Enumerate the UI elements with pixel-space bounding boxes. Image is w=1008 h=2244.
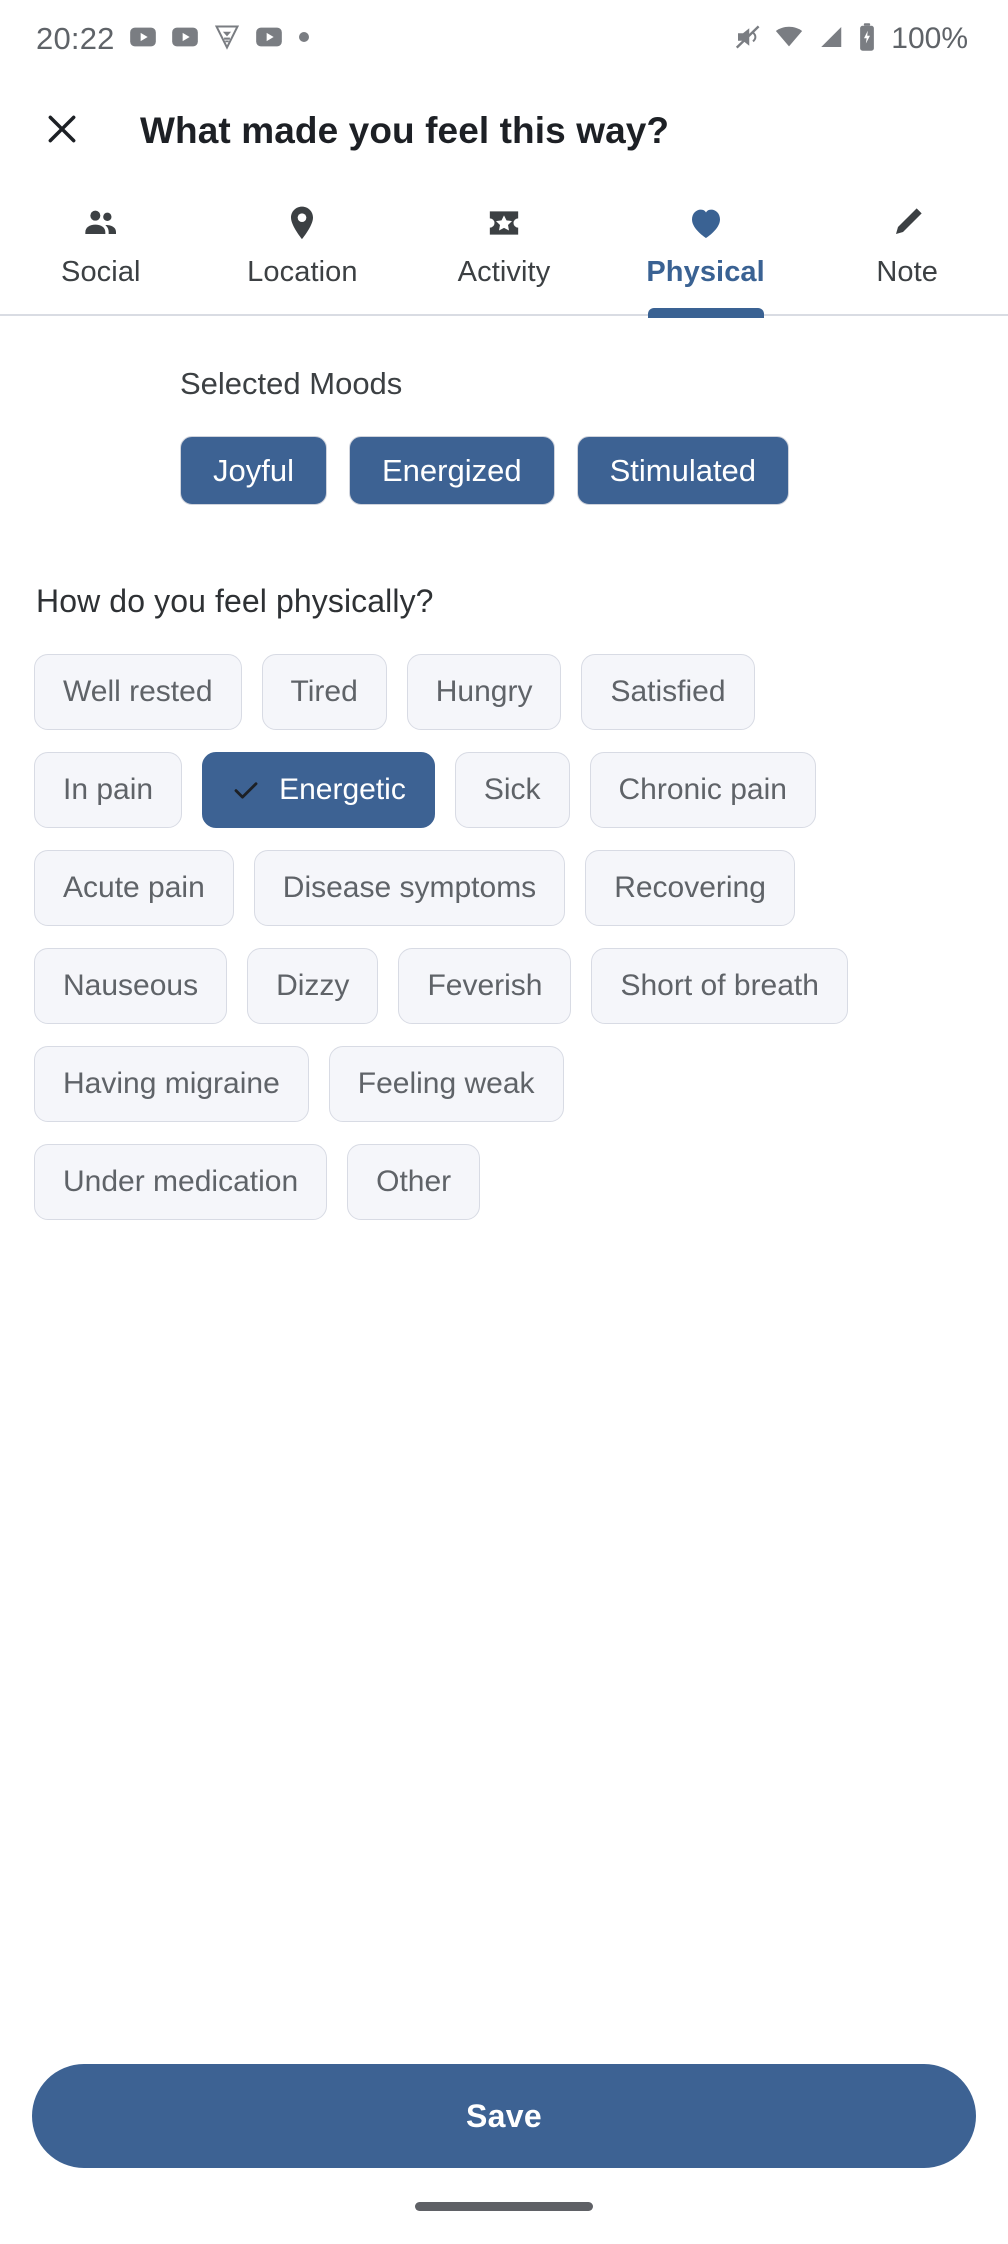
option-label: Hungry bbox=[436, 677, 533, 707]
ticket-star-icon bbox=[484, 202, 524, 244]
option-chip[interactable]: Having migraine bbox=[34, 1046, 309, 1122]
check-icon bbox=[231, 775, 261, 805]
youtube-play-icon bbox=[171, 23, 199, 56]
heart-icon bbox=[686, 202, 726, 244]
pencil-icon bbox=[887, 202, 927, 244]
mute-icon bbox=[733, 22, 763, 57]
youtube-play-icon bbox=[129, 23, 157, 56]
tab-bar: Social Location Activity Physical bbox=[0, 184, 1008, 316]
option-label: Having migraine bbox=[63, 1069, 280, 1099]
option-label: Satisfied bbox=[610, 677, 725, 707]
physical-question: How do you feel physically? bbox=[36, 583, 1008, 620]
option-chip[interactable]: Tired bbox=[262, 654, 387, 730]
gesture-nav-area bbox=[0, 2168, 1008, 2244]
option-label: In pain bbox=[63, 775, 153, 805]
tab-label: Social bbox=[61, 256, 141, 289]
selected-moods-section: Selected Moods Joyful Energized Stimulat… bbox=[0, 316, 1008, 505]
option-chip-selected[interactable]: Energetic bbox=[202, 752, 435, 828]
content-area: Selected Moods Joyful Energized Stimulat… bbox=[0, 316, 1008, 2064]
save-button[interactable]: Save bbox=[32, 2064, 976, 2168]
option-chip[interactable]: Dizzy bbox=[247, 948, 378, 1024]
option-label: Sick bbox=[484, 775, 541, 805]
option-label: Acute pain bbox=[63, 873, 205, 903]
chip-row: Under medication Other bbox=[34, 1144, 974, 1220]
dot-icon bbox=[297, 30, 311, 49]
option-chip[interactable]: Chronic pain bbox=[590, 752, 816, 828]
tab-label: Physical bbox=[646, 256, 765, 289]
selected-mood-chip[interactable]: Stimulated bbox=[577, 436, 789, 505]
battery-charging-icon bbox=[856, 22, 878, 57]
app-bar: What made you feel this way? bbox=[0, 78, 1008, 184]
option-label: Disease symptoms bbox=[283, 873, 536, 903]
status-clock: 20:22 bbox=[36, 21, 115, 57]
option-label: Feeling weak bbox=[358, 1069, 535, 1099]
selected-mood-chip-list: Joyful Energized Stimulated bbox=[180, 436, 1008, 505]
page-title: What made you feel this way? bbox=[140, 110, 669, 152]
status-bar-right: 100% bbox=[733, 22, 968, 57]
option-label: Short of breath bbox=[620, 971, 818, 1001]
option-chip[interactable]: Satisfied bbox=[581, 654, 754, 730]
chip-row: Well rested Tired Hungry Satisfied bbox=[34, 654, 974, 730]
close-button[interactable] bbox=[34, 103, 90, 159]
option-label: Chronic pain bbox=[619, 775, 787, 805]
option-label: Nauseous bbox=[63, 971, 198, 1001]
location-pin-icon bbox=[282, 202, 322, 244]
selected-mood-chip[interactable]: Energized bbox=[349, 436, 555, 505]
option-label: Dizzy bbox=[276, 971, 349, 1001]
youtube-play-icon bbox=[255, 23, 283, 56]
shield-hourglass-icon bbox=[213, 23, 241, 56]
chip-row: In pain Energetic Sick Chronic pain bbox=[34, 752, 974, 828]
tab-note[interactable]: Note bbox=[806, 184, 1008, 316]
close-icon bbox=[42, 109, 82, 154]
wifi-icon bbox=[774, 22, 804, 57]
physical-options-list: Well rested Tired Hungry Satisfied bbox=[0, 654, 1008, 1220]
option-label: Well rested bbox=[63, 677, 213, 707]
option-chip[interactable]: Sick bbox=[455, 752, 570, 828]
status-bar: 20:22 bbox=[0, 0, 1008, 78]
tab-social[interactable]: Social bbox=[0, 184, 202, 316]
option-chip[interactable]: Feverish bbox=[398, 948, 571, 1024]
option-chip[interactable]: Disease symptoms bbox=[254, 850, 565, 926]
selected-moods-label: Selected Moods bbox=[180, 366, 1008, 402]
option-label: Feverish bbox=[427, 971, 542, 1001]
option-label: Under medication bbox=[63, 1167, 298, 1197]
chip-row: Having migraine Feeling weak bbox=[34, 1046, 974, 1122]
selected-mood-chip[interactable]: Joyful bbox=[180, 436, 327, 505]
tab-label: Activity bbox=[458, 256, 551, 289]
app-screen: 20:22 bbox=[0, 0, 1008, 2244]
option-chip[interactable]: In pain bbox=[34, 752, 182, 828]
option-chip[interactable]: Under medication bbox=[34, 1144, 327, 1220]
tab-label: Note bbox=[876, 256, 938, 289]
option-chip[interactable]: Acute pain bbox=[34, 850, 234, 926]
option-chip[interactable]: Well rested bbox=[34, 654, 242, 730]
option-label: Energetic bbox=[279, 775, 406, 805]
option-chip[interactable]: Recovering bbox=[585, 850, 795, 926]
tab-physical[interactable]: Physical bbox=[605, 184, 807, 316]
option-label: Other bbox=[376, 1167, 451, 1197]
tab-activity[interactable]: Activity bbox=[403, 184, 605, 316]
option-chip[interactable]: Hungry bbox=[407, 654, 562, 730]
option-chip[interactable]: Other bbox=[347, 1144, 480, 1220]
option-label: Recovering bbox=[614, 873, 766, 903]
gesture-home-bar[interactable] bbox=[415, 2202, 593, 2211]
signal-icon bbox=[815, 22, 845, 57]
footer: Save bbox=[0, 2064, 1008, 2168]
people-icon bbox=[81, 202, 121, 244]
tab-label: Location bbox=[247, 256, 357, 289]
battery-percent-label: 100% bbox=[891, 22, 968, 56]
option-label: Tired bbox=[291, 677, 358, 707]
option-chip[interactable]: Short of breath bbox=[591, 948, 847, 1024]
option-chip[interactable]: Nauseous bbox=[34, 948, 227, 1024]
chip-row: Nauseous Dizzy Feverish Short of breath bbox=[34, 948, 974, 1024]
option-chip[interactable]: Feeling weak bbox=[329, 1046, 564, 1122]
status-bar-left: 20:22 bbox=[36, 21, 311, 57]
tab-location[interactable]: Location bbox=[202, 184, 404, 316]
chip-row: Acute pain Disease symptoms Recovering bbox=[34, 850, 974, 926]
